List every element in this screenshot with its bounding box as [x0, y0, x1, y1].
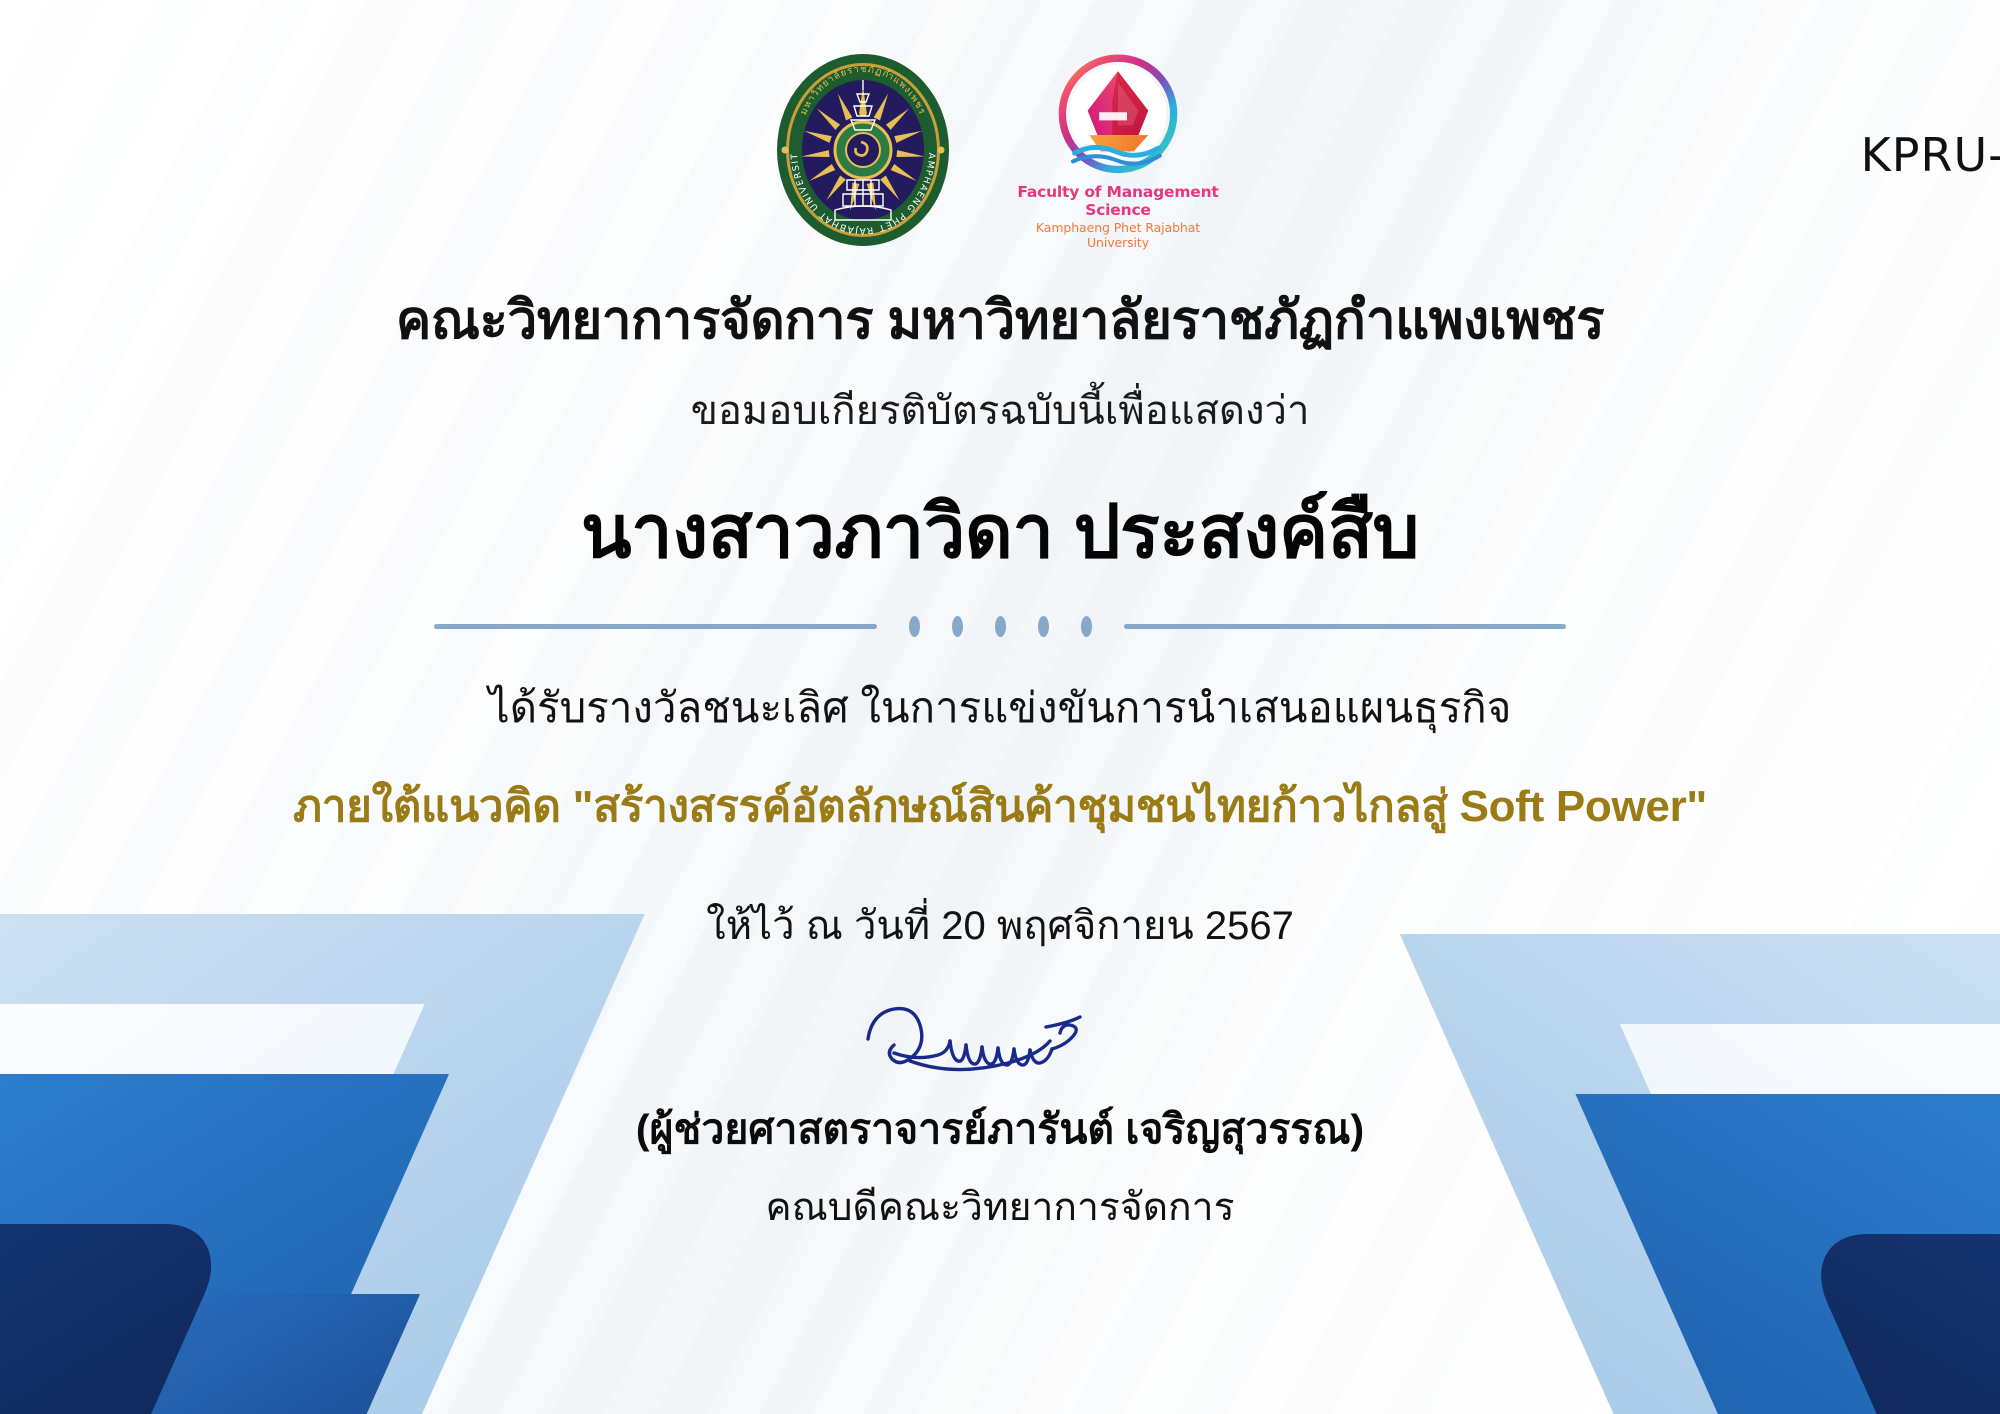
handwritten-signature-icon — [850, 983, 1150, 1093]
certificate-serial-number: KPRU-0 — [1861, 128, 2000, 182]
faculty-logo-subtitle: Kamphaeng Phet Rajabhat University — [1009, 220, 1227, 250]
ornamental-divider — [434, 616, 1566, 637]
divider-dot — [909, 616, 920, 637]
divider-dot — [1081, 616, 1092, 637]
divider-dot — [1038, 616, 1049, 637]
recipient-name: นางสาวภาวิดา ประสงค์สืบ — [581, 472, 1419, 590]
divider-dot — [952, 616, 963, 637]
faculty-logo-title: Faculty of Management Science — [1009, 183, 1227, 219]
faculty-logo-icon: Faculty of Management Science Kamphaeng … — [1009, 50, 1227, 250]
signature-block: (ผู้ช่วยศาสตราจารย์ภารันต์ เจริญสุวรรณ) … — [636, 983, 1364, 1238]
university-seal-icon: มหาวิทยาลัยราชภัฏกำแพงเพชร KAMPHAENG PHE… — [773, 50, 953, 250]
divider-rule-right — [1124, 624, 1567, 629]
competition-concept: ภายใต้แนวคิด "สร้างสรรค์อัตลักษณ์สินค้าช… — [293, 771, 1707, 841]
issue-date: ให้ไว้ ณ วันที่ 20 พฤศจิกายน 2567 — [706, 893, 1294, 957]
signer-role: คณบดีคณะวิทยาการจัดการ — [765, 1176, 1234, 1238]
divider-rule-left — [434, 624, 877, 629]
award-description: ได้รับรางวัลชนะเลิศ ในการแข่งขันการนำเสน… — [489, 675, 1512, 741]
divider-dot — [995, 616, 1006, 637]
signer-name: (ผู้ช่วยศาสตราจารย์ภารันต์ เจริญสุวรรณ) — [636, 1097, 1364, 1162]
faculty-logo-text: Faculty of Management Science Kamphaeng … — [1009, 183, 1227, 250]
organization-line: คณะวิทยาการจัดการ มหาวิทยาลัยราชภัฏกำแพง… — [396, 278, 1604, 362]
logo-row: มหาวิทยาลัยราชภัฏกำแพงเพชร KAMPHAENG PHE… — [773, 50, 1227, 250]
presentation-line: ขอมอบเกียรติบัตรฉบับนี้เพื่อแสดงว่า — [691, 378, 1310, 442]
certificate-content: KPRU-0 — [0, 0, 2000, 1414]
divider-dots — [877, 616, 1124, 637]
